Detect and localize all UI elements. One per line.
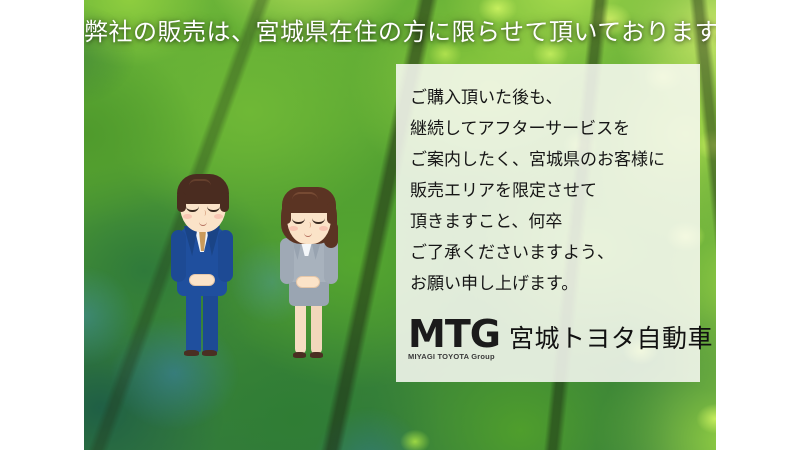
- notice-line: ご購入頂いた後も、: [410, 82, 700, 113]
- woman-leg-right: [311, 300, 322, 354]
- mtg-logo-letters: MTG: [408, 317, 500, 352]
- notice-line: 継続してアフターサービスを: [410, 113, 700, 144]
- man-arm-left: [171, 230, 186, 282]
- slide-canvas: 弊社の販売は、宮城県在住の方に限らせて頂いております。: [0, 0, 800, 450]
- woman-hair-side-left: [282, 202, 291, 224]
- man-hair-highlight: [189, 179, 211, 186]
- man-shoe-left: [184, 350, 199, 356]
- man-sideburn-left: [177, 192, 186, 212]
- woman-cheek-left: [289, 226, 298, 231]
- woman-hair-side-right: [327, 202, 336, 224]
- notice-body-text: ご購入頂いた後も、 継続してアフターサービスを ご案内したく、宮城県のお客様に …: [410, 82, 700, 299]
- notice-line: お願い申し上げます。: [410, 268, 700, 299]
- woman-hair-highlight: [292, 192, 318, 200]
- foliage-photo-background: 弊社の販売は、宮城県在住の方に限らせて頂いております。: [84, 0, 716, 450]
- bowing-businessman-illustration: [156, 168, 252, 364]
- man-clasped-hands: [189, 274, 215, 286]
- man-shoe-right: [202, 350, 217, 356]
- man-cheek-left: [183, 214, 192, 219]
- notice-line: ご了承くださいますよう、: [410, 237, 700, 268]
- man-nose: [201, 210, 206, 216]
- notice-line: ご案内したく、宮城県のお客様に: [410, 144, 700, 175]
- notice-card: ご購入頂いた後も、 継続してアフターサービスを ご案内したく、宮城県のお客様に …: [396, 64, 700, 382]
- mtg-logo-mark: MTG MIYAGI TOYOTA Group: [408, 317, 500, 360]
- man-arm-right: [218, 230, 233, 282]
- woman-shoe-left: [293, 352, 306, 358]
- letterbox-left: [0, 0, 84, 450]
- mtg-logo-subtitle: MIYAGI TOYOTA Group: [408, 353, 500, 361]
- woman-cheek-right: [319, 226, 328, 231]
- man-sideburn-right: [220, 192, 229, 212]
- woman-shoe-right: [310, 352, 323, 358]
- woman-arm-left: [280, 238, 294, 284]
- notice-line: 販売エリアを限定させて: [410, 175, 700, 206]
- mtg-company-logo: MTG MIYAGI TOYOTA Group 宮城トヨタ自動車: [408, 317, 713, 360]
- bowing-businesswoman-illustration: [262, 180, 358, 366]
- headline-text: 弊社の販売は、宮城県在住の方に限らせて頂いております。: [84, 16, 716, 50]
- woman-leg-left: [295, 300, 306, 354]
- woman-nose: [306, 222, 311, 228]
- woman-clasped-hands: [296, 276, 320, 288]
- notice-line: 頂きますこと、何卒: [410, 206, 700, 237]
- man-cheek-right: [214, 214, 223, 219]
- letterbox-right: [716, 0, 800, 450]
- company-name-japanese: 宮城トヨタ自動車: [509, 319, 713, 360]
